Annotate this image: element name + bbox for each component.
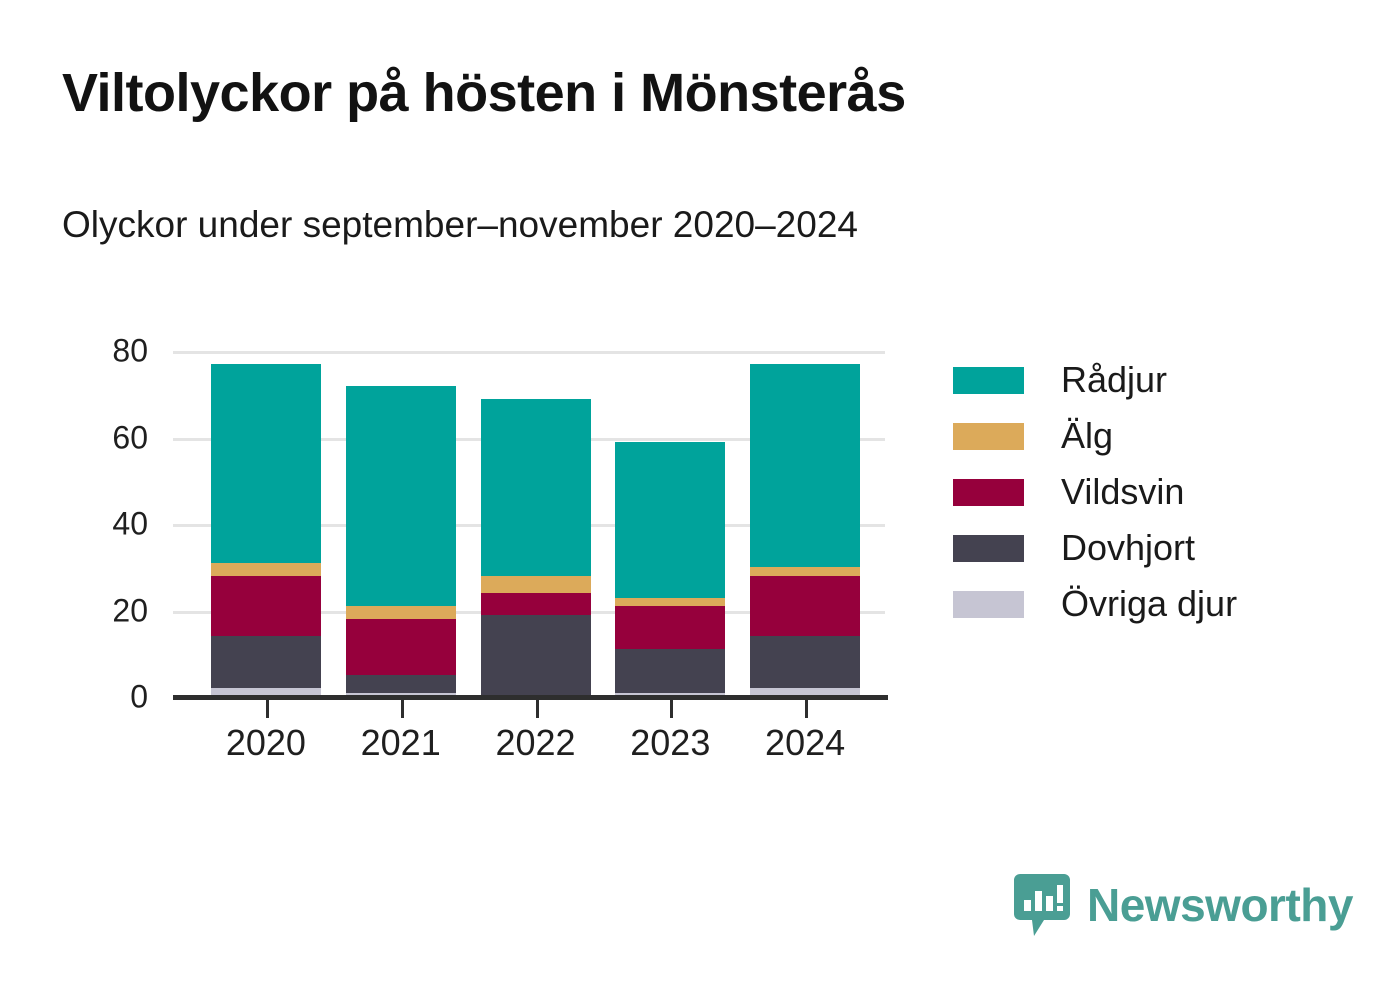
- y-axis-tick-label: 40: [112, 506, 148, 543]
- bar-stack[interactable]: [481, 351, 591, 697]
- chart-card: Viltolyckor på hösten i Mönsterås Olycko…: [0, 0, 1382, 999]
- x-axis-tick: [536, 700, 539, 718]
- legend-swatch: [953, 535, 1024, 562]
- bar-segment[interactable]: [750, 567, 860, 576]
- bar-segment[interactable]: [346, 606, 456, 619]
- legend-label: Vildsvin: [1061, 471, 1184, 513]
- bar-segment[interactable]: [481, 593, 591, 615]
- legend-label: Dovhjort: [1061, 527, 1195, 569]
- legend-item[interactable]: Älg: [953, 408, 1237, 464]
- logo-wordmark: Newsworthy: [1087, 878, 1353, 932]
- bar-segment[interactable]: [615, 606, 725, 649]
- bar-segment[interactable]: [211, 563, 321, 576]
- x-axis-tick: [266, 700, 269, 718]
- x-axis-tick: [670, 700, 673, 718]
- page-subtitle: Olyckor under september–november 2020–20…: [62, 204, 858, 246]
- x-axis-tick: [401, 700, 404, 718]
- y-axis-tick-label: 80: [112, 333, 148, 370]
- bar-segment[interactable]: [750, 576, 860, 637]
- legend-item[interactable]: Vildsvin: [953, 464, 1237, 520]
- bar-segment[interactable]: [346, 386, 456, 607]
- plot-area: [173, 351, 885, 697]
- legend-swatch: [953, 591, 1024, 618]
- page-title: Viltolyckor på hösten i Mönsterås: [62, 62, 906, 124]
- legend-item[interactable]: Dovhjort: [953, 520, 1237, 576]
- bar-segment[interactable]: [615, 598, 725, 607]
- bar-stack[interactable]: [615, 351, 725, 697]
- bar-segment[interactable]: [346, 675, 456, 692]
- bar-segment[interactable]: [615, 649, 725, 692]
- legend-swatch: [953, 367, 1024, 394]
- bar-segment[interactable]: [750, 364, 860, 567]
- legend-item[interactable]: Övriga djur: [953, 576, 1237, 632]
- bar-segment[interactable]: [481, 399, 591, 576]
- bar-segment[interactable]: [750, 636, 860, 688]
- bar-stack[interactable]: [346, 351, 456, 697]
- legend-label: Älg: [1061, 415, 1113, 457]
- bar-segment[interactable]: [615, 442, 725, 598]
- bar-segment[interactable]: [481, 576, 591, 593]
- chart-legend: RådjurÄlgVildsvinDovhjortÖvriga djur: [953, 352, 1237, 632]
- legend-swatch: [953, 423, 1024, 450]
- y-axis: 020406080: [60, 351, 148, 697]
- bar-stack[interactable]: [211, 351, 321, 697]
- bar-segment[interactable]: [346, 619, 456, 675]
- legend-label: Rådjur: [1061, 359, 1167, 401]
- y-axis-tick-label: 60: [112, 419, 148, 456]
- speech-bubble-bar-chart-icon: [1014, 874, 1070, 936]
- x-axis-tick-label: 2024: [725, 722, 885, 764]
- x-axis-tick: [805, 700, 808, 718]
- legend-swatch: [953, 479, 1024, 506]
- x-axis-line: [173, 695, 888, 700]
- y-axis-tick-label: 20: [112, 592, 148, 629]
- bar-stack[interactable]: [750, 351, 860, 697]
- legend-label: Övriga djur: [1061, 583, 1237, 625]
- bar-segment[interactable]: [481, 615, 591, 697]
- bar-segment[interactable]: [211, 576, 321, 637]
- bar-segment[interactable]: [211, 636, 321, 688]
- bar-segment[interactable]: [211, 364, 321, 563]
- legend-item[interactable]: Rådjur: [953, 352, 1237, 408]
- y-axis-tick-label: 0: [130, 679, 148, 716]
- newsworthy-logo: Newsworthy: [1014, 874, 1353, 936]
